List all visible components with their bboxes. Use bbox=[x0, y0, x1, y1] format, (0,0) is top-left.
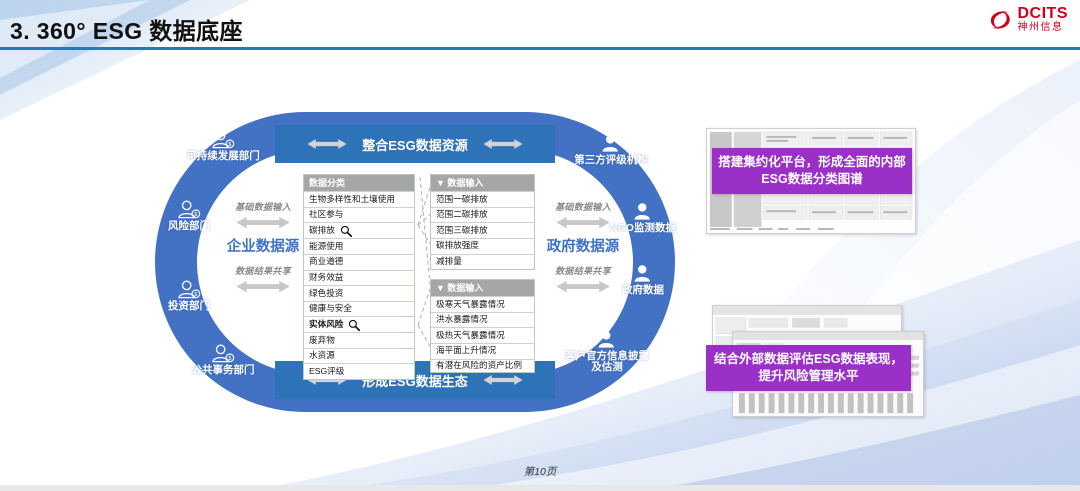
row-label: 碳排放 bbox=[309, 225, 335, 237]
row-label: 范围二碳排放 bbox=[436, 209, 488, 221]
row-label: ESG评级 bbox=[309, 366, 344, 378]
table-row[interactable]: 财务效益 bbox=[304, 270, 414, 286]
svg-text:$: $ bbox=[194, 212, 197, 218]
callout-text: 搭建集约化平台，形成全面的内部ESG数据分类图谱 bbox=[718, 154, 906, 188]
table-row[interactable]: 极热天气暴露情况 bbox=[431, 327, 534, 343]
table-row[interactable]: 废弃物 bbox=[304, 332, 414, 348]
row-label: 财务效益 bbox=[309, 272, 343, 284]
table-row[interactable]: 生物多样性和土壤使用 bbox=[304, 191, 414, 207]
table-header[interactable]: ▼ 数据输入 bbox=[431, 175, 534, 191]
row-label: 能源使用 bbox=[309, 241, 343, 253]
table-row[interactable]: ESG评级 bbox=[304, 363, 414, 379]
table-row[interactable]: 碳排放 bbox=[304, 222, 414, 238]
row-label: 社区参与 bbox=[309, 209, 343, 221]
person-badge-icon bbox=[598, 134, 624, 154]
row-label: 绿色投资 bbox=[309, 288, 343, 300]
table-row[interactable]: 水资源 bbox=[304, 348, 414, 364]
data-category-table: 数据分类 生物多样性和土壤使用 社区参与 碳排放 能源使用 商业道德 财务效益 … bbox=[303, 174, 415, 380]
row-label: 有潜在风险的资产比例 bbox=[436, 361, 522, 370]
table-row[interactable]: 海平面上升情况 bbox=[431, 343, 534, 359]
table-row[interactable]: 健康与安全 bbox=[304, 301, 414, 317]
row-label: 海平面上升情况 bbox=[436, 345, 496, 357]
row-label: 碳排放强度 bbox=[436, 240, 479, 252]
stakeholder-rating-agency: 第三方评级机构 bbox=[565, 134, 657, 166]
row-label: 生物多样性和土壤使用 bbox=[309, 194, 395, 206]
table-row[interactable]: 范围三碳排放 bbox=[431, 222, 534, 238]
stakeholder-label: 第三方评级机构 bbox=[565, 155, 657, 166]
table-header: 数据分类 bbox=[304, 175, 414, 191]
table-header[interactable]: ▼ 数据输入 bbox=[431, 280, 534, 296]
double-arrow-icon bbox=[482, 137, 524, 151]
table-row[interactable]: 极寒天气暴露情况 bbox=[431, 296, 534, 312]
table-row[interactable]: 碳排放强度 bbox=[431, 238, 534, 254]
row-label: 范围三碳排放 bbox=[436, 225, 488, 237]
person-badge-icon bbox=[594, 330, 620, 350]
row-label: 商业道德 bbox=[309, 256, 343, 268]
band-integrate: 整合ESG数据资源 bbox=[275, 125, 555, 163]
title-divider bbox=[0, 47, 1080, 50]
row-label: 洪水暴露情况 bbox=[436, 314, 488, 326]
row-label: 范围一碳排放 bbox=[436, 194, 488, 206]
stakeholder-label: 风险部门 bbox=[143, 221, 235, 232]
footer-strip bbox=[0, 485, 1080, 491]
stakeholder-public-affairs: $ 公共事务部门 bbox=[177, 344, 269, 376]
table-row[interactable]: 能源使用 bbox=[304, 238, 414, 254]
svg-text:$: $ bbox=[228, 356, 231, 362]
table-row[interactable]: 社区参与 bbox=[304, 207, 414, 223]
svg-text:$: $ bbox=[194, 292, 197, 298]
stakeholder-investment: $ 投资部门 bbox=[143, 280, 235, 312]
row-label: 减排量 bbox=[436, 256, 462, 268]
stakeholder-label: 政府数据 bbox=[597, 285, 689, 296]
row-label: 实体风险 bbox=[309, 319, 343, 331]
logo-sub-text: 神州信息 bbox=[1018, 23, 1069, 33]
stakeholder-label: 公共事务部门 bbox=[177, 365, 269, 376]
stakeholder-sustainability: $ 可持续发展部门 bbox=[177, 130, 269, 162]
row-label: 废弃物 bbox=[309, 335, 335, 347]
row-label: 健康与安全 bbox=[309, 303, 352, 315]
table-row[interactable]: 有潜在风险的资产比例 bbox=[431, 359, 534, 372]
table-row[interactable]: 洪水暴露情况 bbox=[431, 312, 534, 328]
svg-text:$: $ bbox=[228, 142, 231, 148]
dcits-swirl-logo-icon bbox=[987, 7, 1013, 33]
page-title: 3. 360° ESG 数据底座 bbox=[10, 12, 243, 46]
double-arrow-icon bbox=[228, 216, 298, 229]
person-badge-icon: $ bbox=[210, 130, 236, 150]
search-icon[interactable] bbox=[340, 225, 352, 237]
slide-canvas: 3. 360° ESG 数据底座 DCITS 神州信息 整合ESG数据资源 bbox=[0, 0, 1080, 491]
table-row[interactable]: 绿色投资 bbox=[304, 285, 414, 301]
callout-external-data: 结合外部数据评估ESG数据表现，提升风险管理水平 bbox=[706, 345, 911, 391]
callout-text: 结合外部数据评估ESG数据表现，提升风险管理水平 bbox=[712, 351, 905, 385]
table-row[interactable]: 商业道德 bbox=[304, 254, 414, 270]
person-badge-icon: $ bbox=[176, 280, 202, 300]
stakeholder-government: 政府数据 bbox=[597, 264, 689, 296]
person-badge-icon: $ bbox=[176, 200, 202, 220]
person-badge-icon bbox=[630, 264, 656, 284]
callout-internal-platform: 搭建集约化平台，形成全面的内部ESG数据分类图谱 bbox=[712, 148, 912, 194]
table-row[interactable]: 范围一碳排放 bbox=[431, 191, 534, 207]
stakeholder-ngo: NGO监测数据 bbox=[597, 202, 689, 234]
page-number: 第10页 bbox=[0, 464, 1080, 479]
stakeholder-label: NGO监测数据 bbox=[597, 223, 689, 234]
carbon-input-table: ▼ 数据输入 范围一碳排放 范围二碳排放 范围三碳排放 碳排放强度 减排量 bbox=[430, 174, 535, 270]
double-arrow-icon bbox=[306, 137, 348, 151]
row-label: 极热天气暴露情况 bbox=[436, 330, 505, 342]
double-arrow-icon bbox=[228, 280, 298, 293]
logo-wordmark: DCITS 神州信息 bbox=[1018, 6, 1069, 33]
stakeholder-customer-disclosure: 客户官方信息披露及估测 bbox=[561, 330, 653, 374]
physical-risk-input-table: ▼ 数据输入 极寒天气暴露情况 洪水暴露情况 极热天气暴露情况 海平面上升情况 … bbox=[430, 279, 535, 373]
table-row[interactable]: 范围二碳排放 bbox=[431, 207, 534, 223]
stakeholder-label: 投资部门 bbox=[143, 301, 235, 312]
slide-header: 3. 360° ESG 数据底座 bbox=[0, 0, 1080, 50]
person-badge-icon: $ bbox=[210, 344, 236, 364]
row-label: 极寒天气暴露情况 bbox=[436, 299, 505, 311]
stakeholder-label: 客户官方信息披露及估测 bbox=[561, 351, 653, 374]
table-row[interactable]: 减排量 bbox=[431, 254, 534, 270]
person-badge-icon bbox=[630, 202, 656, 222]
search-icon[interactable] bbox=[348, 319, 360, 331]
logo-main-text: DCITS bbox=[1018, 6, 1069, 22]
band-integrate-label: 整合ESG数据资源 bbox=[362, 135, 467, 154]
row-label: 水资源 bbox=[309, 350, 335, 362]
brand-logo: DCITS 神州信息 bbox=[987, 6, 1069, 33]
stakeholder-risk: $ 风险部门 bbox=[143, 200, 235, 232]
double-arrow-icon bbox=[482, 373, 524, 387]
table-row-selected[interactable]: 实体风险 bbox=[304, 316, 414, 332]
stakeholder-label: 可持续发展部门 bbox=[177, 151, 269, 162]
